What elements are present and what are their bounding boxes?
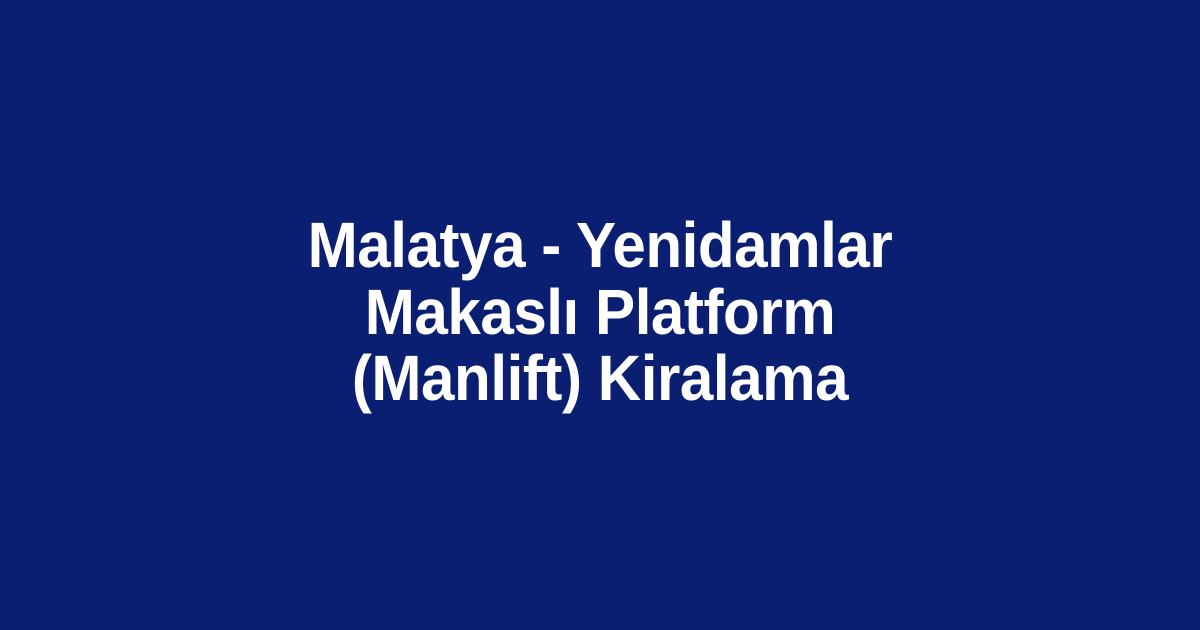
- og-share-card: Malatya - Yenidamlar Makaslı Platform (M…: [0, 0, 1200, 630]
- page-title: Malatya - Yenidamlar Makaslı Platform (M…: [243, 212, 957, 412]
- headline-block: Malatya - Yenidamlar Makaslı Platform (M…: [220, 212, 980, 412]
